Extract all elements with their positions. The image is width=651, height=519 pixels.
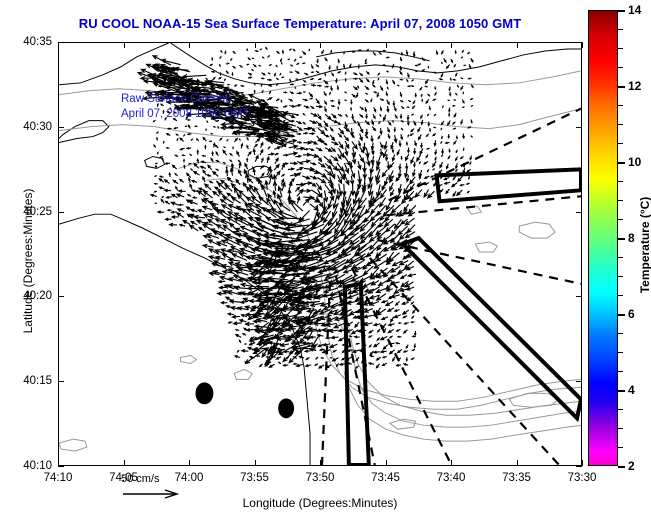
current-vector-arrow	[366, 71, 369, 73]
current-vector-arrow	[407, 296, 413, 301]
current-vector-arrow	[191, 209, 197, 211]
current-vector-arrow	[434, 127, 436, 128]
current-vector-arrow	[384, 115, 386, 121]
current-vector-arrow	[165, 180, 170, 184]
current-vector-arrow	[218, 78, 220, 80]
current-vector-arrow	[351, 100, 353, 104]
current-vector-arrow	[290, 65, 292, 66]
current-vector-arrow	[295, 155, 300, 157]
current-vector-arrow	[456, 163, 458, 168]
current-vector-arrow	[406, 79, 407, 81]
current-vector-arrow	[289, 49, 291, 50]
current-vector-arrow	[179, 204, 183, 206]
current-vector-arrow	[405, 163, 407, 169]
current-vector-arrow	[180, 148, 184, 150]
current-vector-arrow	[175, 127, 178, 128]
current-vector-arrow	[269, 65, 271, 66]
current-vector-arrow	[276, 78, 278, 79]
current-vector-arrow	[218, 127, 219, 129]
current-vector-arrow	[303, 132, 307, 134]
tick-mark	[58, 127, 64, 128]
current-vector-arrow	[180, 179, 184, 182]
current-vector-arrow	[391, 294, 400, 298]
current-vector-arrow	[225, 79, 226, 80]
current-vector-arrow	[288, 168, 294, 170]
station-markers-layer	[195, 382, 294, 418]
colorbar-title: Temperature (°C)	[638, 125, 651, 365]
current-vector-arrow	[369, 330, 373, 333]
current-vector-arrow	[359, 114, 362, 117]
current-vector-arrow	[233, 51, 235, 53]
colorbar-tick-label: 2	[628, 459, 635, 473]
current-vector-arrow	[344, 51, 345, 53]
current-vector-arrow	[380, 128, 382, 134]
current-vector-arrow	[391, 317, 394, 322]
current-vector-arrow	[248, 77, 251, 78]
current-vector-arrow	[373, 114, 375, 118]
current-vector-arrow	[167, 112, 170, 113]
current-vector-arrow	[463, 148, 464, 150]
current-vector-arrow	[225, 51, 226, 54]
current-vector-arrow	[358, 121, 360, 126]
current-vector-arrow	[167, 134, 170, 136]
current-vector-arrow	[424, 162, 428, 164]
current-vector-arrow	[455, 50, 456, 53]
current-vector-arrow	[449, 92, 450, 95]
colorbar-tick	[618, 276, 623, 277]
current-vector-arrow	[388, 134, 390, 138]
current-vector-arrow	[414, 148, 416, 153]
current-vector-arrow	[162, 59, 181, 65]
current-vector-arrow	[374, 351, 380, 353]
current-vector-arrow	[309, 50, 310, 52]
current-vector-arrow	[394, 127, 396, 131]
current-vector-arrow	[470, 162, 471, 165]
current-vector-arrow	[208, 165, 212, 170]
current-vector-arrow	[161, 104, 164, 106]
current-vector-arrow	[279, 362, 281, 363]
current-vector-arrow	[428, 66, 429, 68]
current-vector-arrow	[338, 133, 341, 136]
current-vector-arrow	[350, 64, 351, 67]
current-vector-arrow	[366, 78, 369, 81]
current-vector-arrow	[267, 157, 269, 163]
colorbar-tick	[618, 257, 623, 258]
current-vector-arrow	[339, 141, 343, 148]
current-vector-arrow	[237, 152, 240, 157]
current-vector-arrow	[414, 343, 415, 347]
current-vector-arrow	[434, 140, 436, 145]
current-vector-arrow	[197, 150, 199, 154]
current-vector-arrow	[176, 187, 178, 191]
current-vector-arrow	[210, 181, 213, 183]
current-vector-arrow	[283, 120, 285, 121]
current-vector-arrow	[289, 139, 297, 142]
current-vector-arrow	[302, 176, 309, 179]
current-vector-arrow	[219, 64, 220, 66]
current-vector-arrow	[382, 170, 387, 177]
current-vector-arrow	[453, 79, 455, 80]
current-vector-arrow	[210, 141, 212, 142]
current-vector-arrow	[386, 80, 388, 84]
current-vector-arrow	[205, 146, 206, 150]
current-vector-arrow	[399, 164, 401, 169]
current-vector-arrow	[399, 358, 401, 359]
current-vector-arrow	[462, 57, 463, 58]
current-vector-arrow	[212, 57, 213, 60]
current-vector-arrow	[165, 218, 171, 220]
current-vector-arrow	[194, 171, 200, 175]
current-vector-arrow	[345, 122, 347, 128]
current-vector-arrow	[435, 86, 436, 89]
current-vector-arrow	[267, 79, 271, 81]
current-vector-arrow	[467, 169, 470, 171]
current-vector-arrow	[325, 73, 326, 75]
current-vector-arrow	[310, 176, 317, 179]
current-vector-arrow	[158, 98, 159, 99]
current-vector-arrow	[225, 185, 232, 191]
current-vector-arrow	[189, 125, 191, 128]
current-vector-arrow	[169, 173, 170, 177]
current-vector-arrow	[224, 147, 225, 148]
current-vector-arrow	[370, 355, 374, 356]
current-vector-arrow	[268, 276, 288, 280]
current-vector-arrow	[254, 91, 255, 94]
current-vector-arrow	[371, 136, 373, 142]
current-vector-arrow	[331, 114, 335, 118]
current-vector-arrow	[413, 349, 415, 350]
current-vector-arrow	[170, 223, 177, 226]
current-vector-arrow	[379, 280, 388, 285]
current-vector-arrow	[387, 100, 389, 104]
current-vector-arrow	[296, 79, 298, 80]
tick-mark	[255, 460, 256, 466]
current-vector-arrow	[296, 168, 302, 171]
current-vector-arrow	[172, 216, 179, 219]
colorbar-tick-label: 6	[628, 307, 635, 321]
current-vector-arrow	[450, 78, 451, 80]
current-vector-arrow	[394, 106, 396, 110]
current-vector-arrow	[310, 120, 316, 123]
current-vector-arrow	[400, 114, 402, 118]
current-vector-arrow	[369, 336, 372, 338]
current-vector-arrow	[337, 85, 339, 89]
current-vector-arrow	[262, 57, 263, 58]
current-vector-arrow	[453, 122, 455, 124]
current-vector-arrow	[318, 162, 325, 167]
current-vector-arrow	[318, 114, 321, 119]
current-vector-arrow	[317, 155, 321, 161]
tick-mark	[576, 466, 582, 467]
current-vector-arrow	[431, 175, 435, 177]
current-vector-arrow	[338, 99, 340, 104]
current-vector-arrow	[365, 59, 366, 62]
current-vector-arrow	[370, 351, 373, 355]
current-vector-arrow	[462, 50, 463, 52]
current-vector-arrow	[234, 85, 236, 86]
current-vector-arrow	[230, 300, 241, 304]
current-vector-arrow	[398, 336, 401, 337]
current-vector-arrow	[158, 211, 164, 213]
current-vector-arrow	[268, 73, 270, 74]
current-vector-arrow	[172, 165, 176, 169]
current-vector-arrow	[329, 65, 330, 69]
current-vector-arrow	[433, 133, 436, 135]
current-vector-arrow	[283, 106, 287, 107]
current-vector-arrow	[303, 92, 304, 93]
current-vector-arrow	[407, 86, 409, 87]
current-vector-arrow	[155, 183, 158, 184]
current-vector-arrow	[191, 169, 193, 170]
current-vector-arrow	[269, 175, 273, 185]
current-vector-arrow	[282, 50, 283, 53]
current-vector-arrow	[358, 65, 359, 68]
current-vector-arrow	[211, 158, 213, 162]
current-vector-arrow	[460, 184, 464, 186]
current-vector-arrow	[376, 364, 379, 368]
current-vector-arrow	[448, 134, 450, 138]
current-vector-arrow	[188, 119, 190, 120]
current-vector-arrow	[203, 155, 206, 156]
colorbar-tick	[618, 124, 623, 125]
current-vector-arrow	[191, 221, 197, 224]
current-vector-arrow	[203, 244, 213, 248]
current-vector-arrow	[187, 173, 191, 177]
current-vector-arrow	[415, 190, 422, 197]
current-vector-arrow	[188, 200, 197, 204]
current-vector-arrow	[297, 197, 300, 203]
current-vector-arrow	[454, 113, 456, 117]
current-vector-arrow	[446, 142, 450, 143]
current-vector-arrow	[471, 85, 473, 88]
current-vector-arrow	[405, 322, 409, 324]
current-vector-arrow	[289, 99, 292, 101]
current-vector-arrow	[468, 52, 470, 54]
colorbar-tick	[618, 181, 623, 182]
current-vector-arrow	[269, 92, 270, 94]
current-vector-arrow	[203, 177, 205, 182]
current-vector-arrow	[397, 364, 401, 366]
current-vector-arrow	[290, 92, 293, 94]
current-vector-arrow	[330, 100, 333, 101]
current-vector-arrow	[325, 86, 328, 87]
current-vector-arrow	[228, 313, 234, 315]
colorbar-tick	[618, 200, 623, 201]
current-vector-arrow	[211, 133, 212, 134]
current-vector-arrow	[344, 135, 348, 140]
current-vector-arrow	[331, 86, 333, 90]
current-vector-arrow	[372, 127, 375, 131]
current-vector-arrow	[304, 73, 307, 75]
current-vector-arrow	[358, 86, 359, 88]
current-vector-arrow	[160, 176, 163, 177]
current-vector-arrow	[471, 136, 472, 137]
current-vector-arrow	[255, 50, 258, 51]
current-vector-arrow	[415, 71, 417, 72]
current-vector-arrow	[373, 52, 375, 55]
current-vector-arrow	[380, 86, 382, 90]
current-vector-arrow	[311, 113, 317, 116]
current-vector-arrow	[253, 58, 255, 59]
current-vector-arrow	[303, 84, 305, 85]
current-vector-arrow	[324, 121, 328, 126]
current-vector-arrow	[401, 275, 407, 279]
current-vector-arrow	[248, 73, 251, 75]
current-vector-arrow	[428, 191, 434, 198]
current-vector-arrow	[408, 135, 409, 137]
current-vector-arrow	[281, 63, 282, 64]
current-vector-arrow	[352, 94, 355, 97]
current-vector-arrow	[260, 49, 261, 50]
current-vector-arrow	[442, 50, 444, 53]
current-vector-arrow	[387, 106, 389, 111]
current-vector-arrow	[324, 106, 326, 111]
current-vector-arrow	[399, 71, 401, 74]
current-vector-arrow	[276, 51, 279, 53]
current-vector-arrow	[380, 99, 383, 101]
current-vector-arrow	[275, 158, 278, 163]
current-vector-arrow	[175, 155, 178, 156]
current-vector-arrow	[398, 349, 402, 352]
current-vector-arrow	[374, 323, 380, 326]
current-vector-arrow	[226, 71, 228, 73]
current-vector-arrow	[413, 336, 416, 337]
current-vector-arrow	[441, 128, 442, 129]
current-vector-arrow	[404, 351, 408, 353]
current-vector-arrow	[175, 174, 177, 176]
current-vector-arrow	[333, 350, 336, 352]
current-vector-arrow	[238, 350, 239, 352]
current-vector-arrow	[227, 140, 228, 141]
current-vector-arrow	[230, 168, 233, 175]
current-vector-arrow	[262, 73, 265, 75]
current-vector-arrow	[421, 115, 423, 118]
current-vector-arrow	[440, 162, 443, 168]
current-vector-arrow	[396, 343, 400, 344]
current-vector-arrow	[462, 100, 464, 103]
current-vector-arrow	[386, 301, 393, 305]
current-vector-arrow	[167, 148, 169, 149]
current-vector-arrow	[227, 84, 229, 85]
current-vector-arrow	[334, 266, 352, 273]
current-vector-arrow	[231, 58, 232, 60]
current-vector-arrow	[276, 84, 277, 86]
current-vector-arrow	[310, 98, 313, 99]
tick-mark	[582, 42, 583, 48]
current-vector-arrow	[345, 176, 349, 185]
current-vector-arrow	[311, 72, 313, 73]
current-vector-arrow	[324, 135, 328, 137]
current-vector-arrow	[379, 52, 381, 54]
current-vector-arrow	[441, 73, 443, 76]
current-vector-arrow	[434, 114, 435, 115]
current-vector-arrow	[389, 323, 395, 325]
current-vector-arrow	[420, 161, 421, 163]
colorbar-tick-label: 14	[628, 3, 641, 17]
current-vector-arrow	[396, 301, 400, 305]
current-vector-arrow	[456, 157, 458, 161]
current-vector-arrow	[295, 104, 300, 106]
current-vector-arrow	[253, 64, 256, 66]
current-vector-arrow	[384, 50, 386, 51]
current-vector-arrow	[467, 183, 470, 184]
current-vector-arrow	[180, 224, 185, 226]
current-vector-arrow	[365, 86, 369, 89]
current-vector-arrow	[419, 134, 422, 139]
current-vector-arrow	[453, 105, 455, 106]
current-vector-arrow	[407, 115, 409, 119]
current-vector-arrow	[215, 187, 221, 190]
current-vector-arrow	[393, 120, 394, 122]
current-vector-arrow	[167, 196, 172, 198]
current-vector-arrow	[325, 114, 331, 119]
colorbar-tick-label: 4	[628, 383, 635, 397]
current-vector-arrow	[216, 169, 218, 170]
current-vector-arrow	[343, 64, 344, 67]
current-vector-arrow	[185, 126, 187, 127]
current-vector-arrow	[229, 322, 233, 323]
current-vector-arrow	[426, 99, 429, 103]
current-vector-arrow	[365, 63, 367, 64]
current-vector-arrow	[232, 254, 247, 260]
current-vector-arrow	[232, 315, 240, 318]
current-vector-arrow	[422, 70, 424, 71]
current-vector-arrow	[384, 141, 387, 149]
current-vector-arrow	[356, 366, 359, 368]
current-vector-arrow	[247, 138, 248, 141]
current-vector-arrow	[296, 183, 304, 186]
current-vector-arrow	[380, 198, 386, 207]
current-vector-arrow	[457, 190, 462, 195]
current-vector-arrow	[469, 78, 472, 79]
current-vector-arrow	[165, 118, 166, 121]
current-vector-arrow	[345, 72, 346, 74]
current-vector-arrow	[391, 267, 400, 273]
current-vector-arrow	[413, 169, 416, 175]
current-vector-arrow	[247, 49, 248, 51]
current-vector-arrow	[365, 107, 367, 111]
current-vector-arrow	[163, 141, 164, 143]
current-vector-arrow	[401, 128, 402, 130]
current-vector-arrow	[384, 328, 386, 331]
current-vector-arrow	[188, 133, 191, 134]
colorbar-tick	[618, 447, 623, 448]
current-vector-arrow	[195, 126, 197, 127]
current-vector-arrow	[157, 152, 158, 154]
current-vector-arrow	[442, 121, 444, 125]
current-vector-arrow	[190, 184, 192, 189]
current-vector-arrow	[421, 94, 422, 96]
current-vector-arrow	[240, 139, 241, 140]
current-vector-arrow	[410, 184, 414, 191]
current-vector-arrow	[360, 107, 363, 109]
current-vector-arrow	[413, 100, 415, 103]
current-vector-arrow	[302, 63, 304, 64]
current-vector-arrow	[283, 154, 288, 156]
current-vector-arrow	[219, 280, 225, 283]
current-vector-arrow	[411, 302, 414, 304]
current-vector-arrow	[412, 80, 414, 81]
current-vector-arrow	[422, 99, 423, 101]
current-vector-arrow	[268, 147, 270, 149]
current-vector-arrow	[461, 78, 463, 79]
current-vector-arrow	[448, 155, 450, 158]
current-vector-arrow	[370, 163, 374, 173]
current-vector-arrow	[154, 120, 156, 122]
current-vector-arrow	[403, 310, 409, 314]
current-vector-arrow	[456, 73, 457, 76]
current-vector-arrow	[203, 170, 206, 175]
